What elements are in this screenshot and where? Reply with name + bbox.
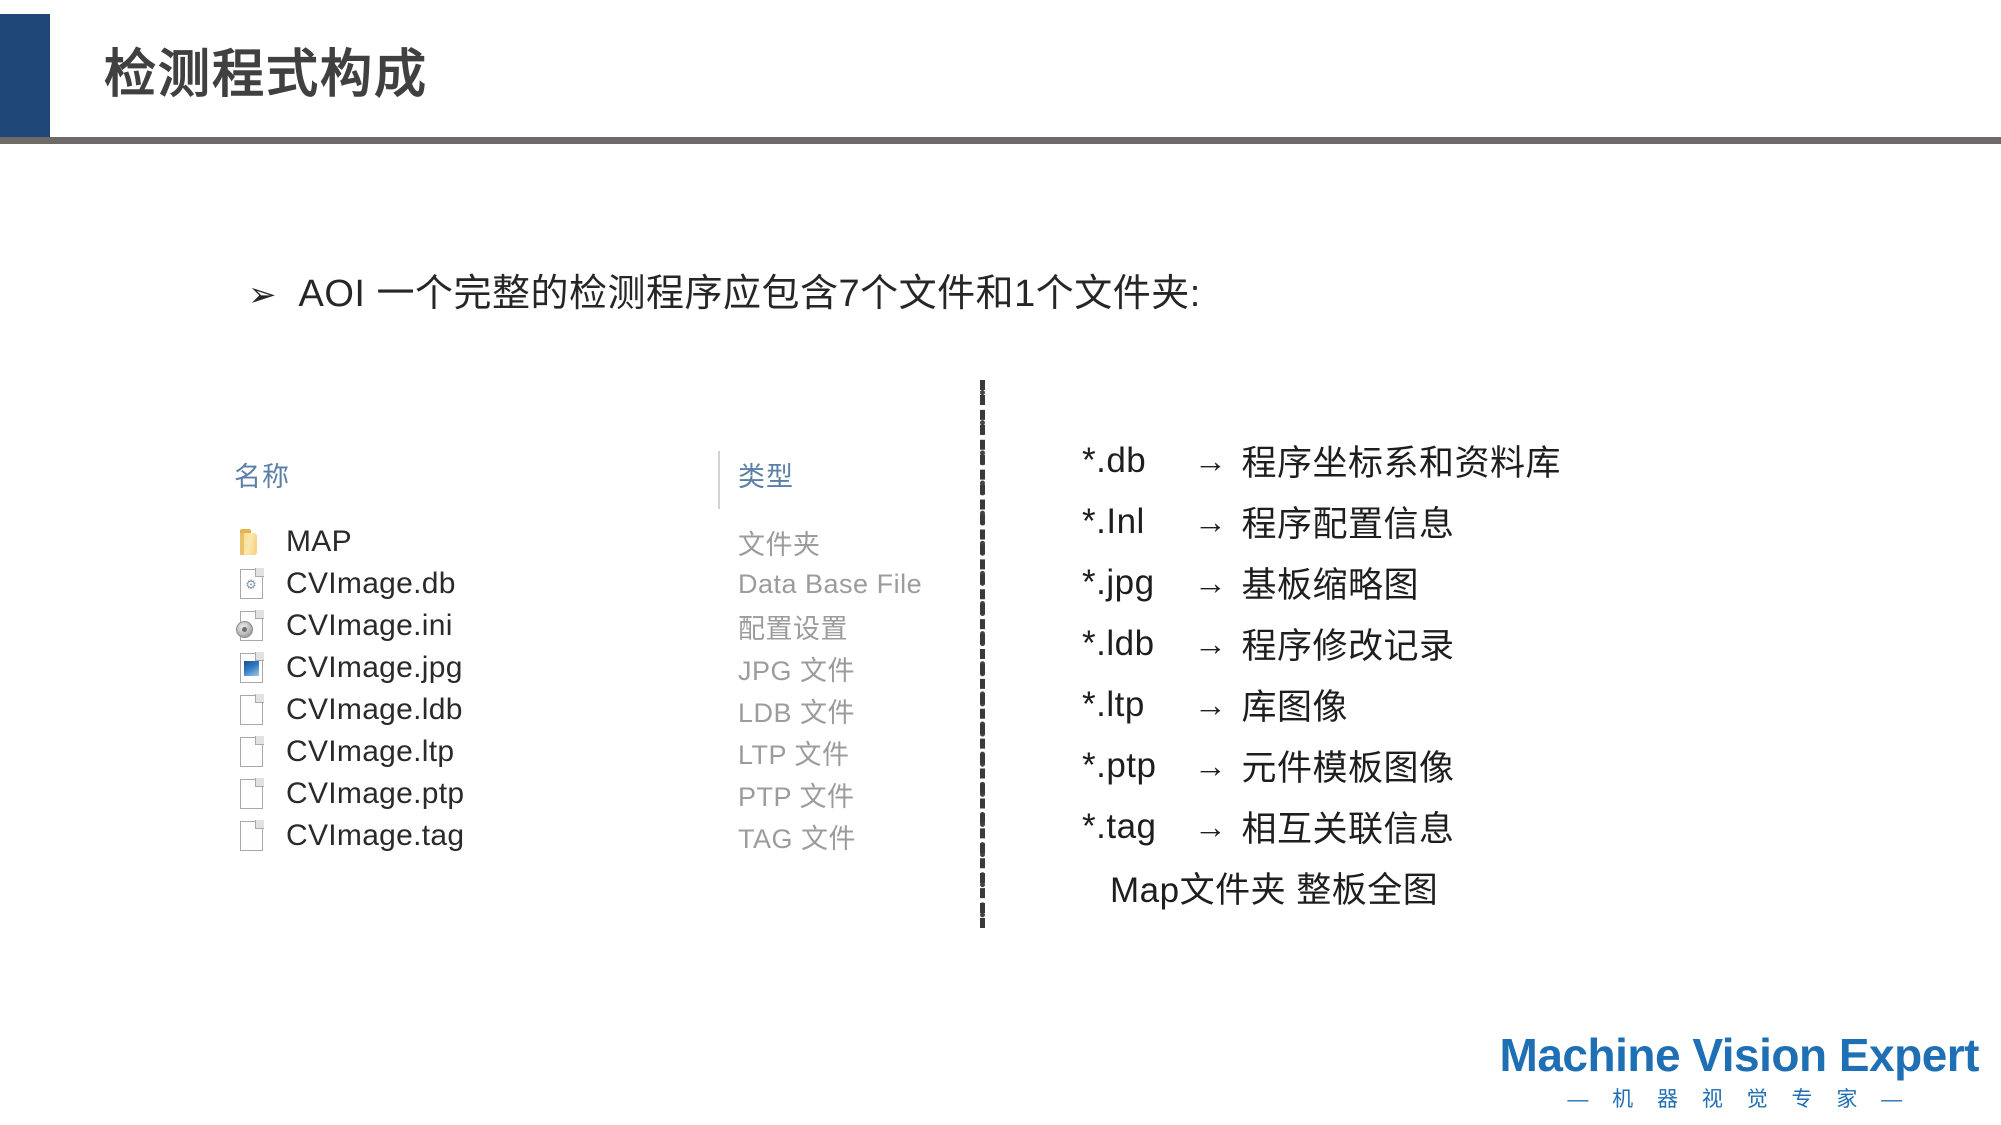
annotation-extension: *.db	[1082, 441, 1194, 481]
annotation-description: 相互关联信息	[1242, 801, 1455, 852]
annotation-description: 程序修改记录	[1242, 618, 1455, 669]
annotation-extension: *.tag	[1082, 807, 1194, 847]
list-item: *.jpg → 基板缩略图	[1082, 552, 1561, 613]
bullet-line: ➢ AOI 一个完整的检测程序应包含7个文件和1个文件夹:	[248, 262, 1201, 317]
bullet-line-text: AOI 一个完整的检测程序应包含7个文件和1个文件夹:	[299, 262, 1201, 317]
config-file-icon	[234, 611, 286, 641]
list-item: *.tag → 相互关联信息	[1082, 796, 1561, 857]
file-name: CVImage.ldb	[286, 693, 463, 727]
file-type: LTP 文件	[738, 733, 850, 772]
arrow-icon: →	[1194, 747, 1242, 785]
file-name: CVImage.jpg	[286, 651, 463, 685]
file-name: MAP	[286, 525, 352, 559]
file-type: LDB 文件	[738, 691, 855, 730]
file-type: Data Base File	[738, 569, 922, 600]
annotation-description: 程序坐标系和资料库	[1242, 435, 1562, 486]
header-accent-block	[0, 14, 50, 137]
page-title: 检测程式构成	[104, 32, 428, 107]
file-name: CVImage.tag	[286, 819, 464, 853]
table-row[interactable]: CVImage.jpg JPG 文件	[234, 647, 934, 689]
table-row[interactable]: CVImage.ptp PTP 文件	[234, 773, 934, 815]
list-item: Map文件夹 整板全图	[1082, 857, 1561, 918]
list-item: *.Inl → 程序配置信息	[1082, 491, 1561, 552]
arrow-icon: →	[1194, 564, 1242, 602]
annotation-extension: *.ptp	[1082, 746, 1194, 786]
arrow-icon: →	[1194, 686, 1242, 724]
header-divider-rule	[0, 137, 2001, 144]
list-item: *.ldb → 程序修改记录	[1082, 613, 1561, 674]
annotation-extension: *.ltp	[1082, 685, 1194, 725]
column-header-name[interactable]: 名称	[234, 455, 290, 494]
image-file-icon	[234, 653, 286, 683]
bullet-arrow-icon: ➢	[248, 278, 277, 312]
table-row[interactable]: ⚙ CVImage.db Data Base File	[234, 563, 934, 605]
annotation-description: 元件模板图像	[1242, 740, 1455, 791]
annotation-description: 程序配置信息	[1242, 496, 1455, 547]
table-row[interactable]: CVImage.ldb LDB 文件	[234, 689, 934, 731]
file-name: CVImage.ini	[286, 609, 453, 643]
annotation-list: *.db → 程序坐标系和资料库 *.Inl → 程序配置信息 *.jpg → …	[1082, 430, 1561, 918]
list-item: *.db → 程序坐标系和资料库	[1082, 430, 1561, 491]
table-row[interactable]: CVImage.tag TAG 文件	[234, 815, 934, 857]
file-type: PTP 文件	[738, 775, 855, 814]
logo-title: Machine Vision Expert	[1500, 1031, 1979, 1079]
arrow-icon: →	[1194, 808, 1242, 846]
annotation-description: 基板缩略图	[1242, 557, 1420, 608]
table-row[interactable]: CVImage.ltp LTP 文件	[234, 731, 934, 773]
logo-subtitle: — 机 器 视 觉 专 家 —	[1500, 1083, 1979, 1113]
folder-icon	[234, 529, 286, 556]
column-header-separator	[718, 451, 720, 509]
arrow-icon: →	[1194, 503, 1242, 541]
blank-file-icon	[234, 695, 286, 725]
arrow-icon: →	[1194, 442, 1242, 480]
annotation-extension: *.ldb	[1082, 624, 1194, 664]
file-name: CVImage.db	[286, 567, 456, 601]
file-name: CVImage.ptp	[286, 777, 464, 811]
table-row[interactable]: MAP 文件夹	[234, 521, 934, 563]
file-type: TAG 文件	[738, 817, 856, 856]
arrow-icon: →	[1194, 625, 1242, 663]
file-type: 配置设置	[738, 607, 848, 646]
blank-file-icon	[234, 779, 286, 809]
blank-file-icon	[234, 821, 286, 851]
annotation-extension: *.jpg	[1082, 563, 1194, 603]
list-item: *.ptp → 元件模板图像	[1082, 735, 1561, 796]
annotation-extension: *.Inl	[1082, 502, 1194, 542]
file-name: CVImage.ltp	[286, 735, 454, 769]
explorer-column-headers: 名称 类型	[234, 455, 934, 521]
vertical-dash-dot-divider	[980, 380, 985, 928]
blank-file-icon	[234, 737, 286, 767]
database-file-icon: ⚙	[234, 569, 286, 599]
table-row[interactable]: CVImage.ini 配置设置	[234, 605, 934, 647]
footer-logo: Machine Vision Expert — 机 器 视 觉 专 家 —	[1500, 1031, 1979, 1113]
list-item: *.ltp → 库图像	[1082, 674, 1561, 735]
annotation-description: Map文件夹 整板全图	[1110, 862, 1438, 913]
file-type: JPG 文件	[738, 649, 855, 688]
file-explorer-listing: 名称 类型 MAP 文件夹 ⚙ CVImage.db Data Base Fil…	[234, 455, 934, 857]
annotation-description: 库图像	[1242, 679, 1349, 730]
column-header-type[interactable]: 类型	[738, 455, 794, 494]
file-type: 文件夹	[738, 523, 821, 562]
